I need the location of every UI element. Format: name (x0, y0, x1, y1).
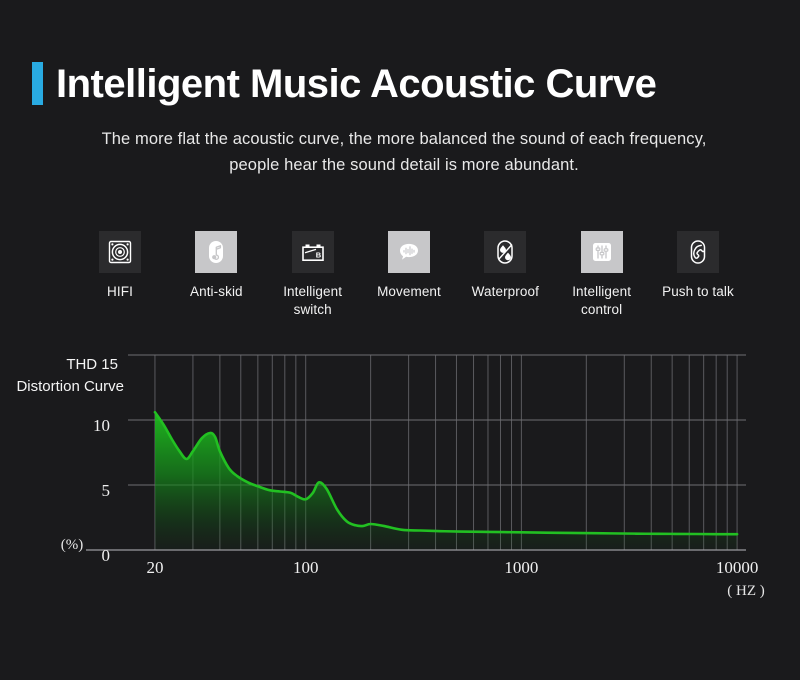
accent-bar (32, 62, 43, 105)
feature-label: Intelligent control (556, 283, 648, 319)
x-tick-label: 1000 (504, 558, 538, 577)
feature-label: Anti-skid (190, 283, 243, 301)
page-title: Intelligent Music Acoustic Curve (56, 64, 656, 104)
battery-b-icon: B (292, 231, 334, 273)
phone-handset-icon (677, 231, 719, 273)
feature-label: Waterproof (472, 283, 539, 301)
subtitle-line-1: The more flat the acoustic curve, the mo… (40, 127, 768, 153)
speech-waveform-icon (388, 231, 430, 273)
equalizer-sliders-icon (581, 231, 623, 273)
acoustic-curve-page: Intelligent Music Acoustic Curve The mor… (0, 0, 800, 680)
chart-subtitle: Distortion Curve (16, 378, 124, 395)
x-axis-ticks: 20100100010000 (146, 558, 758, 577)
y-axis-ticks: 0510 (93, 416, 110, 565)
page-header: Intelligent Music Acoustic Curve The mor… (32, 62, 776, 178)
y-tick-label: 5 (102, 481, 111, 500)
y-axis-unit-label: (%) (61, 537, 84, 553)
feature-list: HIFI Anti-skid B (74, 231, 744, 319)
chart-title: THD 15 (66, 356, 118, 373)
svg-text:B: B (315, 251, 321, 260)
y-tick-label: 0 (102, 546, 111, 565)
feature-item-waterproof[interactable]: Waterproof (459, 231, 551, 301)
y-tick-label: 10 (93, 416, 110, 435)
feature-label: Intelligent switch (267, 283, 359, 319)
feature-item-hifi[interactable]: HIFI (74, 231, 166, 301)
feature-item-anti-skid[interactable]: Anti-skid (170, 231, 262, 301)
curve-area-fill (155, 412, 737, 550)
feature-label: HIFI (107, 283, 133, 301)
feature-item-intelligent-switch[interactable]: B Intelligent switch (267, 231, 359, 319)
chart-svg: 0510 20100100010000 THD 15 Distortion Cu… (0, 345, 800, 615)
thd-distortion-chart: 0510 20100100010000 THD 15 Distortion Cu… (0, 345, 800, 615)
x-tick-label: 20 (146, 558, 163, 577)
feature-item-push-to-talk[interactable]: Push to talk (652, 231, 744, 301)
subtitle-line-2: people hear the sound detail is more abu… (40, 153, 768, 179)
page-subtitle: The more flat the acoustic curve, the mo… (32, 127, 776, 178)
water-drops-icon (484, 231, 526, 273)
feature-label: Movement (377, 283, 441, 301)
feature-item-movement[interactable]: Movement (363, 231, 455, 301)
x-tick-label: 10000 (716, 558, 759, 577)
feature-label: Push to talk (662, 283, 734, 301)
x-axis-unit-label: ( HZ ) (727, 583, 765, 599)
feature-item-intelligent-control[interactable]: Intelligent control (556, 231, 648, 319)
hifi-speaker-icon (99, 231, 141, 273)
title-row: Intelligent Music Acoustic Curve (32, 62, 776, 105)
music-note-icon (195, 231, 237, 273)
x-tick-label: 100 (293, 558, 319, 577)
